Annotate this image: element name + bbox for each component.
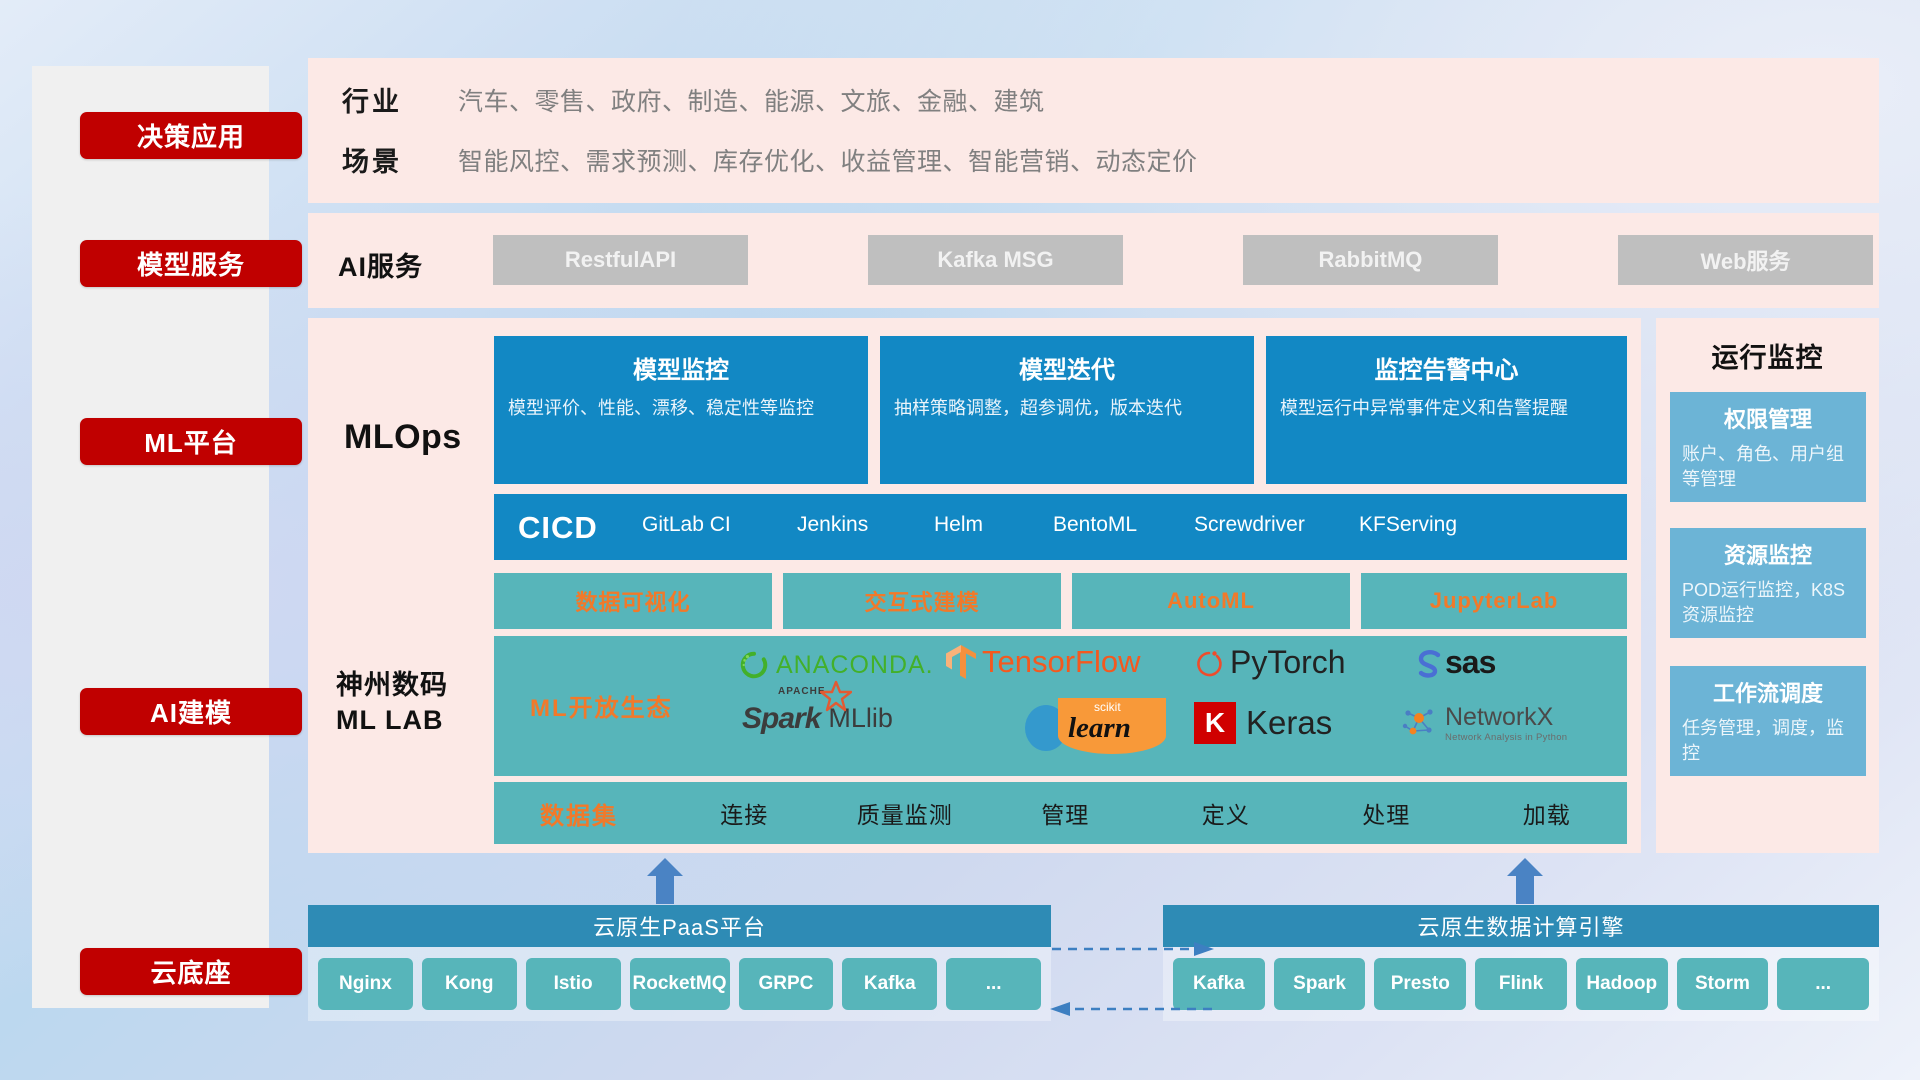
dataset-item-process[interactable]: 处理 (1306, 796, 1467, 830)
service-chip-label: Kafka MSG (937, 247, 1053, 273)
mlops-card-title: 模型监控 (508, 350, 854, 385)
pytorch-wordmark: PyTorch (1230, 644, 1346, 681)
networkx-tagline: Network Analysis in Python (1445, 732, 1567, 743)
ai-service-label: AI服务 (338, 245, 423, 284)
dataset-item-define[interactable]: 定义 (1146, 796, 1307, 830)
scenario-key: 场景 (342, 140, 458, 179)
runtime-monitoring-panel: 运行监控 权限管理 账户、角色、用户组等管理 资源监控 POD运行监控，K8S资… (1656, 318, 1879, 853)
anaconda-wordmark: ANACONDA. (776, 651, 934, 680)
anaconda-logo: ANACONDA. (739, 650, 934, 680)
keras-icon: K (1194, 702, 1236, 744)
networkx-wordmark: NetworkX (1445, 705, 1567, 730)
spark-mllib-logo: APACHE Spark MLlib (742, 702, 893, 736)
keras-wordmark: Keras (1246, 704, 1332, 742)
industry-value: 汽车、零售、政府、制造、能源、文旅、金融、建筑 (458, 82, 1045, 118)
cicd-item-kfserving[interactable]: KFServing (1359, 512, 1471, 538)
pytorch-icon (1194, 647, 1224, 679)
rail-label-4: 云底座 (150, 953, 231, 990)
service-chip-label: Web服务 (1700, 244, 1790, 276)
cloud-chip-kafka[interactable]: Kafka (842, 958, 937, 1010)
rail-item-4[interactable]: 云底座 (80, 948, 302, 995)
tool-chip-label: JupyterLab (1430, 588, 1559, 614)
monitoring-card-desc: POD运行监控，K8S资源监控 (1682, 578, 1854, 628)
cloud-data-engine-title: 云原生数据计算引擎 (1163, 905, 1879, 947)
cloud-chip-hadoop[interactable]: Hadoop (1576, 958, 1668, 1010)
cloud-data-engine-chips: Kafka Spark Presto Flink Hadoop Storm ..… (1163, 947, 1879, 1021)
industry-key: 行业 (342, 80, 458, 119)
cicd-item-jenkins[interactable]: Jenkins (797, 512, 909, 538)
layer-rail: 决策应用 模型服务 ML平台 AI建模 云底座 (32, 66, 269, 1008)
spark-star-icon (820, 680, 852, 712)
cloud-chip-more[interactable]: ... (946, 958, 1041, 1010)
cloud-chip-grpc[interactable]: GRPC (739, 958, 834, 1010)
keras-logo: K Keras (1194, 702, 1332, 744)
ml-ecosystem-label: ML开放生态 (530, 688, 673, 723)
paas-up-arrow-icon (645, 858, 685, 904)
tool-chip-automl[interactable]: AutoML (1072, 573, 1350, 629)
pytorch-logo: PyTorch (1194, 644, 1346, 681)
cloud-chip-presto[interactable]: Presto (1374, 958, 1466, 1010)
monitoring-card-permission[interactable]: 权限管理 账户、角色、用户组等管理 (1670, 392, 1866, 502)
mlops-card-model-iteration[interactable]: 模型迭代 抽样策略调整，超参调优，版本迭代 (880, 336, 1254, 484)
networkx-icon (1399, 704, 1439, 744)
cicd-title: CICD (518, 510, 598, 546)
rail-label-2: ML平台 (144, 423, 238, 460)
cicd-bar: CICD GitLab CI Jenkins Helm BentoML Scre… (494, 494, 1627, 562)
application-layer-panel: 行业 汽车、零售、政府、制造、能源、文旅、金融、建筑 场景 智能风控、需求预测、… (308, 58, 1879, 203)
cloud-paas-title: 云原生PaaS平台 (308, 905, 1051, 947)
monitoring-card-title: 权限管理 (1682, 402, 1854, 434)
dataset-item-load[interactable]: 加载 (1467, 796, 1628, 830)
mlops-panel: MLOps 模型监控 模型评价、性能、漂移、稳定性等监控 模型迭代 抽样策略调整… (308, 318, 1641, 563)
cloud-link-arrows (1048, 940, 1216, 1018)
cloud-data-engine-group: 云原生数据计算引擎 Kafka Spark Presto Flink Hadoo… (1163, 905, 1879, 1021)
rail-label-1: 模型服务 (137, 245, 245, 282)
cloud-chip-storm[interactable]: Storm (1677, 958, 1769, 1010)
cloud-chip-spark[interactable]: Spark (1274, 958, 1366, 1010)
ml-ecosystem-box: ML开放生态 ANACONDA. TensorFlow (494, 636, 1627, 776)
rail-label-0: 决策应用 (137, 117, 245, 154)
mlops-card-desc: 模型运行中异常事件定义和告警提醒 (1280, 395, 1613, 421)
mlops-card-model-monitoring[interactable]: 模型监控 模型评价、性能、漂移、稳定性等监控 (494, 336, 868, 484)
tool-chip-label: 数据可视化 (575, 585, 690, 617)
cloud-chip-rocketmq[interactable]: RocketMQ (630, 958, 730, 1010)
cloud-paas-chips: Nginx Kong Istio RocketMQ GRPC Kafka ... (308, 947, 1051, 1021)
anaconda-icon (739, 650, 769, 680)
tool-chip-jupyterlab[interactable]: JupyterLab (1361, 573, 1627, 629)
dataset-item-connect[interactable]: 连接 (664, 796, 825, 830)
tool-chip-label: 交互式建模 (864, 585, 979, 617)
cicd-item-gitlab-ci[interactable]: GitLab CI (642, 512, 754, 538)
mlops-card-alert-center[interactable]: 监控告警中心 模型运行中异常事件定义和告警提醒 (1266, 336, 1627, 484)
rail-item-2[interactable]: ML平台 (80, 418, 302, 465)
mlops-card-title: 监控告警中心 (1280, 350, 1613, 385)
cloud-chip-more2[interactable]: ... (1777, 958, 1869, 1010)
ml-lab-line2: ML LAB (336, 703, 496, 738)
cicd-item-bentoml[interactable]: BentoML (1053, 512, 1165, 538)
mlops-card-title: 模型迭代 (894, 350, 1240, 385)
scenario-value: 智能风控、需求预测、库存优化、收益管理、智能营销、动态定价 (458, 142, 1198, 178)
application-row-scenario: 场景 智能风控、需求预测、库存优化、收益管理、智能营销、动态定价 (342, 140, 1198, 179)
tensorflow-icon (944, 644, 978, 680)
application-row-industry: 行业 汽车、零售、政府、制造、能源、文旅、金融、建筑 (342, 80, 1045, 119)
cloud-paas-group: 云原生PaaS平台 Nginx Kong Istio RocketMQ GRPC… (308, 905, 1051, 1021)
rail-item-1[interactable]: 模型服务 (80, 240, 302, 287)
service-chip-rabbitmq[interactable]: RabbitMQ (1243, 235, 1498, 285)
ml-lab-line1: 神州数码 (336, 668, 496, 703)
rail-item-0[interactable]: 决策应用 (80, 112, 302, 159)
mlops-card-desc: 抽样策略调整，超参调优，版本迭代 (894, 395, 1240, 421)
monitoring-card-workflow[interactable]: 工作流调度 任务管理，调度，监控 (1670, 666, 1866, 776)
service-chip-restfulapi[interactable]: RestfulAPI (493, 235, 748, 285)
service-layer-panel: AI服务 RestfulAPI Kafka MSG RabbitMQ Web服务 (308, 213, 1879, 308)
cloud-chip-kong[interactable]: Kong (422, 958, 517, 1010)
dataset-bar: 数据集 连接 质量监测 管理 定义 处理 加载 (494, 782, 1627, 844)
sas-logo: sas (1414, 644, 1495, 681)
data-engine-up-arrow-icon (1505, 858, 1545, 904)
service-chip-label: RabbitMQ (1319, 247, 1423, 273)
spark-apache-word: APACHE (778, 686, 825, 697)
dataset-item-manage[interactable]: 管理 (985, 796, 1146, 830)
rail-item-3[interactable]: AI建模 (80, 688, 302, 735)
tensorflow-wordmark: TensorFlow (982, 644, 1141, 680)
cicd-item-screwdriver[interactable]: Screwdriver (1194, 512, 1306, 538)
architecture-diagram: 决策应用 模型服务 ML平台 AI建模 云底座 行业 汽车、零售、政府、制造、能… (0, 0, 1920, 1080)
monitoring-card-title: 工作流调度 (1682, 676, 1854, 708)
tool-chip-interactive-modeling[interactable]: 交互式建模 (783, 573, 1061, 629)
monitoring-card-title: 资源监控 (1682, 538, 1854, 570)
service-chip-web[interactable]: Web服务 (1618, 235, 1873, 285)
arrow-right-head-icon (1194, 942, 1214, 956)
arrow-left-head-icon (1050, 1002, 1070, 1016)
cloud-chip-nginx[interactable]: Nginx (318, 958, 413, 1010)
cicd-item-helm[interactable]: Helm (934, 512, 1046, 538)
service-chip-kafka-msg[interactable]: Kafka MSG (868, 235, 1123, 285)
monitoring-card-resource[interactable]: 资源监控 POD运行监控，K8S资源监控 (1670, 528, 1866, 638)
cloud-chip-flink[interactable]: Flink (1475, 958, 1567, 1010)
mlops-card-desc: 模型评价、性能、漂移、稳定性等监控 (508, 395, 854, 421)
dataset-title: 数据集 (494, 796, 664, 831)
tensorflow-logo: TensorFlow (944, 644, 1141, 680)
service-chip-label: RestfulAPI (565, 247, 676, 273)
tool-chip-label: AutoML (1167, 588, 1255, 614)
cloud-chip-istio[interactable]: Istio (526, 958, 621, 1010)
runtime-monitoring-title: 运行监控 (1656, 336, 1879, 375)
dataset-item-quality[interactable]: 质量监测 (825, 796, 986, 830)
modeling-panel: 神州数码 ML LAB 数据可视化 交互式建模 AutoML JupyterLa… (308, 560, 1641, 853)
sas-icon (1414, 647, 1444, 679)
spark-wordmark: Spark (742, 702, 820, 736)
monitoring-card-desc: 账户、角色、用户组等管理 (1682, 442, 1854, 492)
rail-label-3: AI建模 (150, 693, 232, 730)
sas-wordmark: sas (1445, 644, 1495, 681)
learn-word: learn (1068, 712, 1131, 745)
ml-lab-label: 神州数码 ML LAB (336, 668, 496, 738)
mlops-label: MLOps (344, 418, 462, 457)
networkx-logo: NetworkX Network Analysis in Python (1399, 704, 1567, 744)
monitoring-card-desc: 任务管理，调度，监控 (1682, 716, 1854, 766)
tool-chip-data-visualization[interactable]: 数据可视化 (494, 573, 772, 629)
